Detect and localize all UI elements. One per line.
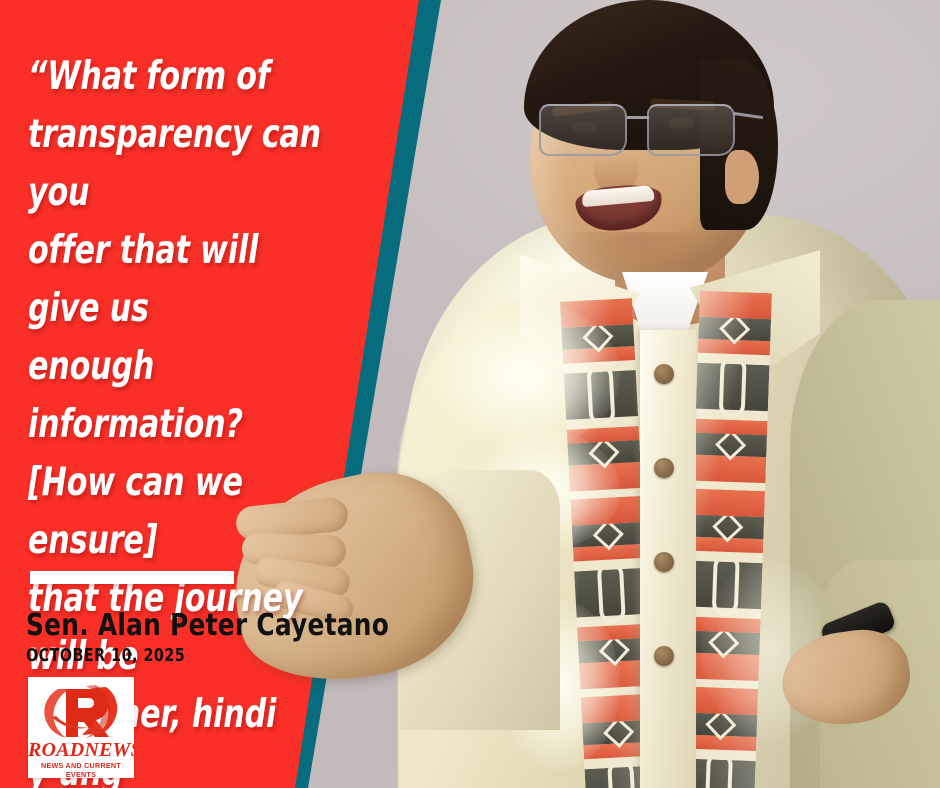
road-r-swoosh-icon [36,683,128,739]
woven-stripe [692,489,765,517]
woven-stripe [698,317,771,341]
quote-card: “What form of transparency can you offer… [0,0,940,788]
woven-stripe [687,631,760,655]
publication-date: OCTOBER 10, 2025 [26,645,185,666]
speaker-name: Sen. Alan Peter Cayetano [26,608,389,643]
woven-stripe [567,440,640,466]
oval-motif [712,553,740,616]
woven-stripe [696,363,770,411]
logo-tagline: NEWS AND CURRENT EVENTS [28,761,134,778]
woven-stripe [695,419,767,436]
woven-stripe [691,515,764,539]
eyeglasses-icon [537,98,749,160]
woven-stripe [685,687,758,715]
roadnews-logo-mark [28,677,134,741]
woven-stripe [561,324,634,350]
woven-stripe [560,298,633,328]
shirt-button [654,646,674,666]
logo-wordmark: ROADNEWS [28,739,134,762]
woven-stripe [574,568,648,618]
oval-motif [586,363,615,426]
shirt-button [654,364,674,384]
shirt-placket [640,330,696,788]
woven-stripe [689,561,763,609]
quote-divider-rule [30,571,234,584]
left-sleeve [400,470,560,730]
lens-right [647,104,735,156]
roadnews-logo[interactable]: ROADNEWS NEWS AND CURRENT EVENTS [28,677,134,778]
nose [594,140,638,192]
woven-stripe [564,370,638,420]
woven-stripe [572,522,645,548]
woven-stripe [688,617,760,634]
woven-stripe [694,433,767,457]
glasses-bridge [627,116,649,119]
woven-stripe [570,496,643,526]
woven-stripe [699,291,772,319]
shirt-button [654,458,674,478]
shirt-button [654,552,674,572]
chin-shadow [560,232,720,278]
oval-motif [719,356,747,419]
oval-motif [597,561,626,624]
